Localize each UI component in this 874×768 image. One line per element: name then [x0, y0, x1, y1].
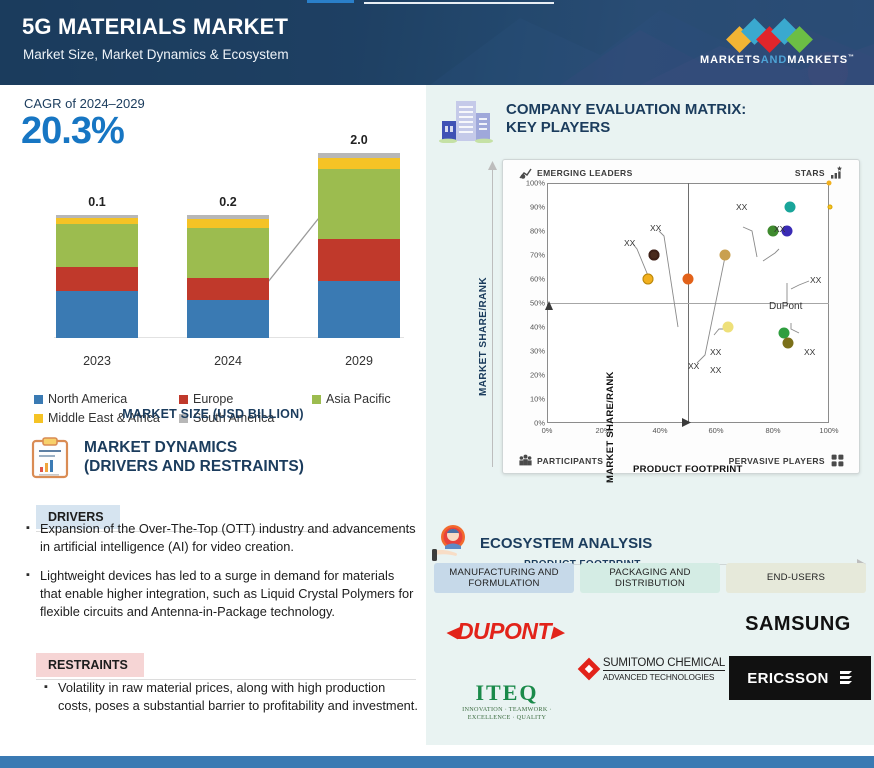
x-axis-label-2029: 2029 — [318, 354, 400, 368]
ecosystem-column-label: PACKAGING AND DISTRIBUTION — [584, 567, 716, 590]
sumitomo-subtext: ADVANCED TECHNOLOGIES — [603, 672, 725, 682]
list-item: ▪ Volatility in raw material prices, alo… — [44, 679, 422, 716]
bar-segment-north-america — [318, 281, 400, 338]
logo-cell-sumitomo: SUMITOMO CHEMICAL ADVANCED TECHNOLOGIES — [580, 647, 726, 691]
sumitomo-diamond-icon — [578, 658, 601, 681]
ecosystem-columns: MANUFACTURING AND FORMULATION PACKAGING … — [434, 563, 866, 593]
y-axis-arrow-icon — [492, 167, 493, 467]
restraints-tag: RESTRAINTS — [36, 653, 144, 677]
logo-cell-samsung: SAMSUNG — [730, 607, 866, 641]
ecosystem-column-packaging[interactable]: PACKAGING AND DISTRIBUTION — [580, 563, 720, 593]
marketsandmarkets-logo: MARKETSANDMARKETS™ — [700, 22, 850, 70]
dupont-wordmark: DUPONT — [457, 618, 551, 644]
x-tick: 0% — [542, 426, 553, 435]
bar-group-2024[interactable]: 0.2 — [187, 215, 269, 338]
data-point-label: XX — [736, 202, 747, 212]
ecosystem-column-label: MANUFACTURING AND FORMULATION — [438, 567, 570, 590]
x-tick: 80% — [765, 426, 780, 435]
company-evaluation-matrix-header: COMPANY EVALUATION MATRIX: KEY PLAYERS — [438, 95, 746, 143]
x-tick: 60% — [708, 426, 723, 435]
page-title: 5G MATERIALS MARKET — [22, 14, 288, 40]
bar-group-2023[interactable]: 0.1 — [56, 215, 138, 338]
data-point[interactable] — [683, 274, 694, 285]
cagr-label: CAGR of 2024–2029 — [24, 96, 145, 111]
logo-word-and: AND — [761, 54, 788, 66]
restraints-list: ▪ Volatility in raw material prices, alo… — [44, 679, 422, 726]
x-tick: 100% — [819, 426, 838, 435]
bar-segment-asia-pacific — [318, 169, 400, 239]
logo-trademark: ™ — [848, 54, 855, 60]
legend-item-asia-pacific[interactable]: Asia Pacific — [312, 392, 391, 406]
y-tick: 50% — [530, 299, 545, 308]
data-point-label: XX — [774, 224, 785, 234]
matrix-frame: EMERGING LEADERS STARS PARTICIPANTS PERV… — [502, 159, 860, 474]
y-axis-arrowhead-icon — [488, 161, 497, 171]
legend-swatch-icon — [179, 395, 188, 404]
inner-y-arrow-icon — [545, 301, 553, 311]
quadrant-label-pervasive-players: PERVASIVE PLAYERS — [729, 456, 825, 466]
x-tick: 40% — [652, 426, 667, 435]
iteq-wordmark: ITEQ — [462, 680, 552, 706]
legend-item-europe[interactable]: Europe — [179, 392, 312, 406]
drivers-list: ▪ Expansion of the Over-The-Top (OTT) in… — [26, 520, 418, 631]
bar-segment-europe — [56, 267, 138, 291]
bar-total-label-2029: 2.0 — [318, 133, 400, 147]
puzzle-pieces-icon — [831, 454, 844, 467]
legend-swatch-icon — [34, 395, 43, 404]
y-tick: 20% — [530, 371, 545, 380]
edge-marker — [827, 181, 832, 186]
y-tick: 40% — [530, 323, 545, 332]
sumitomo-text: SUMITOMO CHEMICAL ADVANCED TECHNOLOGIES — [603, 657, 725, 682]
page-subtitle: Market Size, Market Dynamics & Ecosystem — [23, 47, 289, 62]
list-item: ▪ Expansion of the Over-The-Top (OTT) in… — [26, 520, 418, 557]
matrix-x-axis-title-inner: PRODUCT FOOTPRINT — [633, 464, 743, 475]
y-tick: 80% — [530, 227, 545, 236]
logo-word-markets-2: MARKETS — [787, 54, 848, 66]
ericsson-symbol-icon — [839, 669, 853, 687]
y-tick: 10% — [530, 395, 545, 404]
page-header: 5G MATERIALS MARKET Market Size, Market … — [0, 0, 874, 85]
quadrant-label-emerging-leaders: EMERGING LEADERS — [537, 168, 633, 178]
y-tick: 60% — [530, 275, 545, 284]
bar-segment-europe — [318, 239, 400, 281]
bar-segment-middle-east-africa — [318, 158, 400, 169]
bullet-marker-icon: ▪ — [44, 679, 58, 716]
data-point[interactable] — [720, 250, 731, 261]
inner-x-arrow-icon — [681, 418, 691, 427]
legend-label: Asia Pacific — [326, 392, 391, 406]
matrix-y-axis-title: MARKET SHARE/RANK — [478, 277, 489, 396]
quadrant-label-participants: PARTICIPANTS — [537, 456, 603, 466]
data-point-label: XX — [710, 347, 721, 357]
data-point-label: XX — [804, 347, 815, 357]
ericsson-logo: ERICSSON — [729, 656, 871, 700]
bar-segment-europe — [187, 278, 269, 300]
data-point-label: XX — [650, 223, 661, 233]
data-point[interactable] — [649, 250, 660, 261]
logo-cell-iteq: ITEQ INNOVATION · TEAMWORK · EXCELLENCE … — [442, 677, 572, 725]
logo-cell-ericsson: ERICSSON — [740, 655, 860, 701]
dupont-caret-right-icon: ▸ — [551, 618, 562, 644]
evaluation-matrix: MARKET SHARE/RANK PRODUCT FOOTPRINT EMER… — [474, 159, 860, 489]
legend-item-north-america[interactable]: North America — [34, 392, 179, 406]
header-accent-line-2 — [364, 2, 554, 4]
bar-total-label-2024: 0.2 — [187, 195, 269, 209]
y-tick: 90% — [530, 203, 545, 212]
data-point-label: XX — [810, 275, 821, 285]
data-point[interactable] — [643, 274, 654, 285]
market-dynamics-header: MARKET DYNAMICS (DRIVERS AND RESTRAINTS) — [30, 437, 304, 479]
quadrant-label-stars: STARS — [795, 168, 825, 178]
cem-title-line2: KEY PLAYERS — [506, 119, 746, 137]
ecosystem-column-manufacturing[interactable]: MANUFACTURING AND FORMULATION — [434, 563, 574, 593]
ecosystem-analysis-title: ECOSYSTEM ANALYSIS — [480, 535, 652, 552]
market-dynamics-title-line1: MARKET DYNAMICS — [84, 439, 304, 458]
logo-wordmark: MARKETSANDMARKETS™ — [700, 54, 850, 66]
company-evaluation-matrix-title: COMPANY EVALUATION MATRIX: KEY PLAYERS — [506, 101, 746, 138]
ecosystem-logo-grid: ◂DUPONT▸ ITEQ INNOVATION · TEAMWORK · EX… — [434, 599, 866, 729]
matrix-plot-area: 100% 90% 80% 70% 60% 50% 40% 30% 20% 10%… — [547, 183, 829, 445]
dupont-logo: ◂DUPONT▸ — [446, 618, 562, 645]
bottom-gap — [0, 745, 874, 756]
iteq-tagline-line2: EXCELLENCE · QUALITY — [462, 714, 552, 722]
x-axis-label-2024: 2024 — [187, 354, 269, 368]
restraint-text: Volatility in raw material prices, along… — [58, 679, 422, 716]
star-bars-icon — [830, 166, 843, 179]
logo-cell-dupont: ◂DUPONT▸ — [434, 611, 574, 651]
matrix-y-axis-title-inner: MARKET SHARE/RANK — [605, 371, 616, 483]
bar-segment-north-america — [187, 300, 269, 338]
sumitomo-wordmark: SUMITOMO CHEMICAL — [603, 657, 725, 671]
market-size-caption: MARKET SIZE (USD BILLION) — [0, 407, 426, 421]
legend-label: Europe — [193, 392, 233, 406]
samsung-logo: SAMSUNG — [745, 613, 851, 636]
data-point-label: XX — [688, 361, 699, 371]
bottom-accent-bar — [0, 756, 874, 768]
sumitomo-logo: SUMITOMO CHEMICAL ADVANCED TECHNOLOGIES — [581, 657, 725, 682]
edge-marker — [828, 205, 833, 210]
logo-word-markets-1: MARKETS — [700, 54, 761, 66]
bar-total-label-2023: 0.1 — [56, 195, 138, 209]
bullet-marker-icon: ▪ — [26, 567, 40, 622]
market-size-bar-chart: 0.1 2023 0.2 2024 2.0 2029 — [14, 130, 414, 400]
market-dynamics-title-line2: (DRIVERS AND RESTRAINTS) — [84, 458, 304, 477]
iteq-tagline-line1: INNOVATION · TEAMWORK · — [462, 706, 552, 714]
data-point-label-dupont: DuPont — [769, 301, 802, 312]
legend-row-1: North America Europe Asia Pacific — [34, 392, 424, 406]
data-point[interactable] — [783, 338, 794, 349]
market-dynamics-title: MARKET DYNAMICS (DRIVERS AND RESTRAINTS) — [84, 439, 304, 476]
ecosystem-column-end-users[interactable]: END-USERS — [726, 563, 866, 593]
y-tick: 30% — [530, 347, 545, 356]
data-point[interactable] — [785, 202, 796, 213]
bar-segment-north-america — [56, 291, 138, 338]
clipboard-chart-icon — [30, 437, 70, 479]
bar-group-2029[interactable]: 2.0 — [318, 153, 400, 338]
legend-swatch-icon — [312, 395, 321, 404]
left-panel: CAGR of 2024–2029 20.3% 0.1 2023 0.2 202… — [0, 85, 426, 745]
legend-label: North America — [48, 392, 127, 406]
iteq-logo: ITEQ INNOVATION · TEAMWORK · EXCELLENCE … — [462, 680, 552, 723]
header-accent-line — [307, 0, 354, 3]
bar-segment-asia-pacific — [187, 228, 269, 278]
y-tick: 100% — [526, 179, 545, 188]
bullet-marker-icon: ▪ — [26, 520, 40, 557]
ecosystem-column-label: END-USERS — [767, 572, 825, 583]
bar-segment-asia-pacific — [56, 224, 138, 267]
right-panel: COMPANY EVALUATION MATRIX: KEY PLAYERS M… — [426, 85, 874, 745]
list-item: ▪ Lightweight devices has led to a surge… — [26, 567, 418, 622]
x-axis-label-2023: 2023 — [56, 354, 138, 368]
cem-title-line1: COMPANY EVALUATION MATRIX: — [506, 101, 746, 119]
person-hand-icon — [432, 523, 472, 563]
data-point-label: XX — [710, 365, 721, 375]
participants-group-icon — [519, 454, 532, 467]
data-point-label: XX — [624, 238, 635, 248]
driver-text: Expansion of the Over-The-Top (OTT) indu… — [40, 520, 418, 557]
office-building-icon — [438, 95, 494, 143]
dupont-caret-left-icon: ◂ — [446, 618, 457, 644]
logo-diamonds-icon — [724, 22, 828, 52]
ericsson-wordmark: ERICSSON — [747, 670, 829, 687]
bar-segment-middle-east-africa — [187, 219, 269, 228]
ecosystem-analysis-header: ECOSYSTEM ANALYSIS — [432, 523, 652, 563]
data-point[interactable] — [723, 322, 734, 333]
y-tick: 70% — [530, 251, 545, 260]
driver-text: Lightweight devices has led to a surge i… — [40, 567, 418, 622]
